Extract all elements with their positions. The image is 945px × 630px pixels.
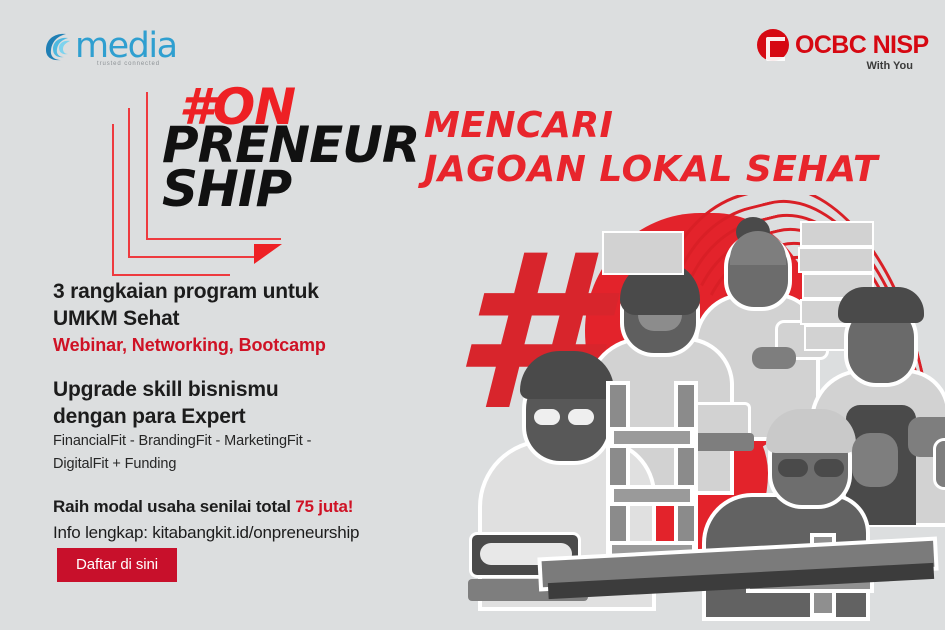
ocbc-name-primary: OCBC: [795, 31, 866, 59]
prize-line: Raih modal usaha senilai total 75 juta!: [53, 494, 453, 520]
media-logo: media trusted connected: [44, 28, 179, 70]
swoosh-icon: [44, 32, 78, 62]
programs-highlight: Webinar, Networking, Bootcamp: [53, 332, 453, 358]
copy-block-programs: 3 rangkaian program untuk UMKM Sehat Web…: [53, 278, 453, 358]
photo-collage: #: [430, 195, 945, 630]
media-tagline: trusted connected: [97, 61, 160, 67]
workbench-plank: [542, 543, 942, 613]
headline-line-2: JAGOAN LOKAL SEHAT: [424, 148, 878, 192]
onpreneurship-lockup: #ON PRENEUR SHIP: [112, 84, 382, 274]
programs-lead-line-1: 3 rangkaian program untuk: [53, 278, 453, 305]
red-flag-shape: [254, 244, 282, 264]
info-url-line: Info lengkap: kitabangkit.id/onpreneursh…: [53, 520, 453, 546]
prize-prefix: Raih modal usaha senilai total: [53, 497, 295, 516]
upgrade-sub-line-2: DigitalFit + Funding: [53, 453, 453, 476]
page-title: MENCARI JAGOAN LOKAL SEHAT: [424, 104, 878, 192]
ocbc-circle-icon: [757, 29, 789, 61]
prize-amount: 75 juta!: [295, 497, 353, 516]
ocbc-name-secondary: NISP: [873, 31, 929, 59]
upgrade-lead-line-1: Upgrade skill bisnismu: [53, 376, 453, 403]
register-button[interactable]: Daftar di sini: [57, 548, 177, 582]
ocbc-nisp-logo: OCBC NISP With You: [757, 27, 917, 75]
ocbc-wordmark: OCBC NISP: [795, 31, 929, 60]
lockup-line-ship: SHIP: [162, 164, 291, 214]
copy-block-upgrade: Upgrade skill bisnismu dengan para Exper…: [53, 376, 453, 476]
copy-block-prize: Raih modal usaha senilai total 75 juta! …: [53, 494, 453, 546]
ocbc-tagline: With You: [866, 60, 913, 72]
programs-lead-line-2: UMKM Sehat: [53, 305, 453, 332]
marketing-copy: 3 rangkaian program untuk UMKM Sehat Web…: [53, 278, 453, 564]
upgrade-lead-line-2: dengan para Expert: [53, 403, 453, 430]
media-wordmark: media: [75, 27, 177, 65]
promo-banner: media trusted connected OCBC NISP With Y…: [0, 0, 945, 630]
headline-line-1: MENCARI: [424, 105, 613, 146]
upgrade-sub-line-1: FinancialFit - BrandingFit - MarketingFi…: [53, 430, 453, 453]
